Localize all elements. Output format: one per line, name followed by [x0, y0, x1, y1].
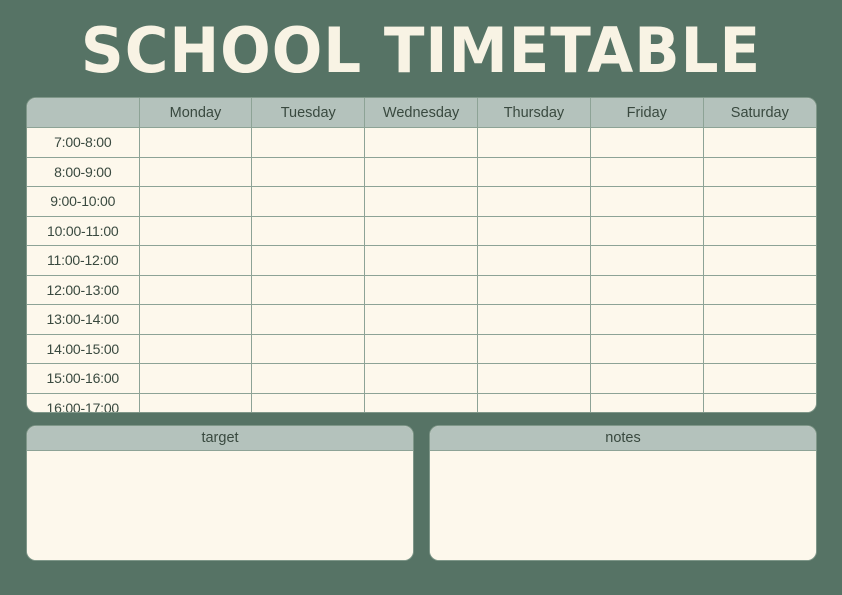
- notes-panel-body[interactable]: [430, 451, 816, 560]
- slot-cell[interactable]: [478, 128, 591, 158]
- slot-cell[interactable]: [703, 334, 816, 364]
- table-row: 11:00-12:00: [27, 246, 816, 276]
- timetable-header-row: Monday Tuesday Wednesday Thursday Friday…: [27, 98, 816, 128]
- time-label: 8:00-9:00: [27, 157, 139, 187]
- slot-cell[interactable]: [139, 334, 252, 364]
- slot-cell[interactable]: [139, 128, 252, 158]
- slot-cell[interactable]: [590, 334, 703, 364]
- slot-cell[interactable]: [478, 187, 591, 217]
- slot-cell[interactable]: [703, 157, 816, 187]
- slot-cell[interactable]: [590, 216, 703, 246]
- target-panel-title: target: [27, 426, 413, 451]
- slot-cell[interactable]: [590, 393, 703, 412]
- time-label: 12:00-13:00: [27, 275, 139, 305]
- slot-cell[interactable]: [590, 187, 703, 217]
- slot-cell[interactable]: [252, 187, 365, 217]
- table-row: 7:00-8:00: [27, 128, 816, 158]
- slot-cell[interactable]: [478, 275, 591, 305]
- slot-cell[interactable]: [703, 246, 816, 276]
- slot-cell[interactable]: [365, 187, 478, 217]
- column-header-tuesday[interactable]: Tuesday: [252, 98, 365, 128]
- slot-cell[interactable]: [365, 128, 478, 158]
- page-title: SCHOOL TIMETABLE: [17, 16, 825, 86]
- slot-cell[interactable]: [590, 364, 703, 394]
- column-header-saturday[interactable]: Saturday: [703, 98, 816, 128]
- timetable-body: 7:00-8:00 8:00-9:00: [27, 128, 816, 413]
- notes-panel-title: notes: [430, 426, 816, 451]
- slot-cell[interactable]: [590, 157, 703, 187]
- slot-cell[interactable]: [365, 364, 478, 394]
- time-label: 13:00-14:00: [27, 305, 139, 335]
- target-panel-body[interactable]: [27, 451, 413, 560]
- slot-cell[interactable]: [478, 216, 591, 246]
- slot-cell[interactable]: [478, 364, 591, 394]
- slot-cell[interactable]: [252, 334, 365, 364]
- slot-cell[interactable]: [703, 364, 816, 394]
- time-label: 14:00-15:00: [27, 334, 139, 364]
- column-header-wednesday[interactable]: Wednesday: [365, 98, 478, 128]
- slot-cell[interactable]: [478, 393, 591, 412]
- slot-cell[interactable]: [139, 216, 252, 246]
- slot-cell[interactable]: [252, 216, 365, 246]
- slot-cell[interactable]: [139, 305, 252, 335]
- slot-cell[interactable]: [365, 216, 478, 246]
- slot-cell[interactable]: [365, 305, 478, 335]
- slot-cell[interactable]: [365, 334, 478, 364]
- table-row: 13:00-14:00: [27, 305, 816, 335]
- slot-cell[interactable]: [478, 157, 591, 187]
- slot-cell[interactable]: [139, 364, 252, 394]
- notes-panel: notes: [430, 426, 816, 560]
- slot-cell[interactable]: [703, 305, 816, 335]
- table-row: 8:00-9:00: [27, 157, 816, 187]
- slot-cell[interactable]: [478, 334, 591, 364]
- slot-cell[interactable]: [478, 305, 591, 335]
- table-row: 14:00-15:00: [27, 334, 816, 364]
- slot-cell[interactable]: [252, 305, 365, 335]
- column-header-monday[interactable]: Monday: [139, 98, 252, 128]
- table-row: 9:00-10:00: [27, 187, 816, 217]
- timetable-page: SCHOOL TIMETABLE Monday Tuesday Wednesda…: [0, 0, 842, 595]
- table-row: 12:00-13:00: [27, 275, 816, 305]
- slot-cell[interactable]: [365, 275, 478, 305]
- slot-cell[interactable]: [139, 187, 252, 217]
- slot-cell[interactable]: [252, 393, 365, 412]
- time-label: 15:00-16:00: [27, 364, 139, 394]
- slot-cell[interactable]: [365, 157, 478, 187]
- slot-cell[interactable]: [365, 393, 478, 412]
- slot-cell[interactable]: [139, 275, 252, 305]
- slot-cell[interactable]: [703, 128, 816, 158]
- slot-cell[interactable]: [478, 246, 591, 276]
- slot-cell[interactable]: [590, 305, 703, 335]
- slot-cell[interactable]: [252, 246, 365, 276]
- target-panel: target: [27, 426, 413, 560]
- time-label: 16:00-17:00: [27, 393, 139, 412]
- slot-cell[interactable]: [703, 187, 816, 217]
- slot-cell[interactable]: [590, 275, 703, 305]
- slot-cell[interactable]: [252, 275, 365, 305]
- slot-cell[interactable]: [252, 128, 365, 158]
- table-row: 16:00-17:00: [27, 393, 816, 412]
- slot-cell[interactable]: [590, 128, 703, 158]
- table-row: 10:00-11:00: [27, 216, 816, 246]
- column-header-friday[interactable]: Friday: [590, 98, 703, 128]
- timetable-corner-cell: [27, 98, 139, 128]
- table-row: 15:00-16:00: [27, 364, 816, 394]
- slot-cell[interactable]: [139, 246, 252, 276]
- slot-cell[interactable]: [365, 246, 478, 276]
- time-label: 11:00-12:00: [27, 246, 139, 276]
- time-label: 7:00-8:00: [27, 128, 139, 158]
- time-label: 10:00-11:00: [27, 216, 139, 246]
- timetable-grid: Monday Tuesday Wednesday Thursday Friday…: [27, 98, 816, 412]
- column-header-thursday[interactable]: Thursday: [478, 98, 591, 128]
- slot-cell[interactable]: [252, 157, 365, 187]
- slot-cell[interactable]: [139, 157, 252, 187]
- slot-cell[interactable]: [590, 246, 703, 276]
- slot-cell[interactable]: [703, 393, 816, 412]
- slot-cell[interactable]: [703, 275, 816, 305]
- timetable-table: Monday Tuesday Wednesday Thursday Friday…: [27, 98, 816, 412]
- time-label: 9:00-10:00: [27, 187, 139, 217]
- slot-cell[interactable]: [703, 216, 816, 246]
- slot-cell[interactable]: [139, 393, 252, 412]
- slot-cell[interactable]: [252, 364, 365, 394]
